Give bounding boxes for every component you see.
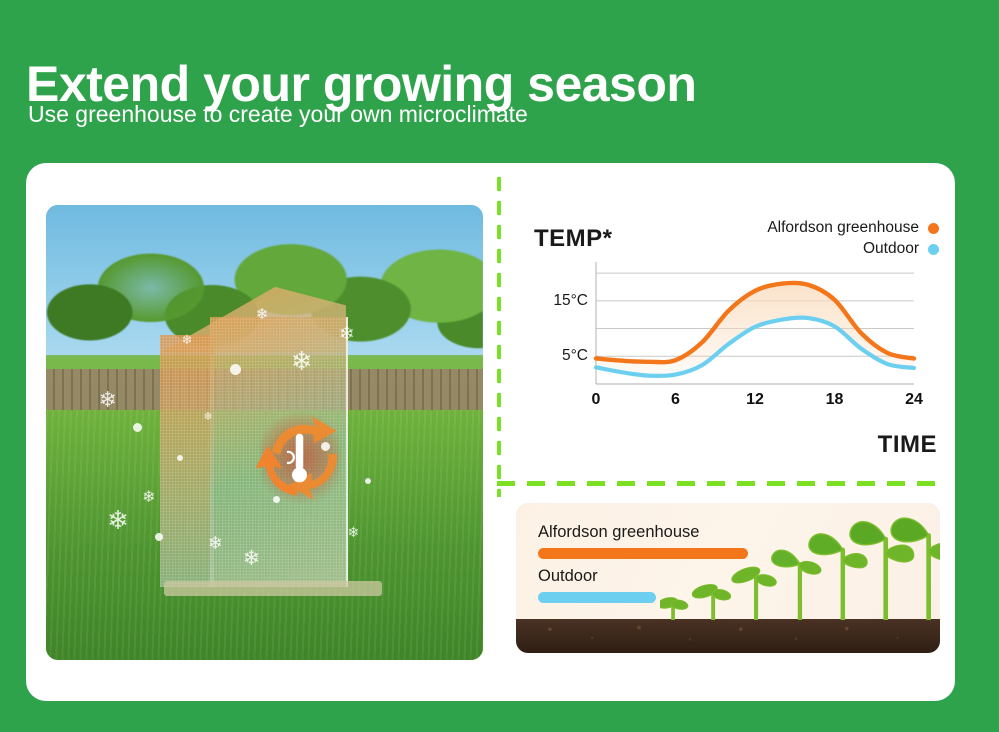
snowflake-icon: ❄: [98, 387, 116, 413]
thermometer-sun-icon: [287, 419, 312, 497]
greenhouse-photo: ❄ ❄ ❄ ❄ ❄ ❄ ❄ ❄ ❄ ❄ ❄: [46, 205, 483, 660]
snowflake-icon: ❄: [348, 524, 360, 541]
content-card: ❄ ❄ ❄ ❄ ❄ ❄ ❄ ❄ ❄ ❄ ❄ TEMP* TIME: [26, 163, 955, 701]
chart-legend: Alfordson greenhouse Outdoor: [767, 219, 939, 261]
chart-x-tick: 18: [826, 391, 844, 409]
chart-x-tick: 0: [592, 391, 601, 409]
snowflake-icon: ❄: [243, 546, 261, 571]
chart-x-tick: 12: [746, 391, 764, 409]
particle: [365, 478, 371, 484]
vertical-dashed-divider: [497, 177, 501, 497]
snowflake-icon: ❄: [203, 410, 212, 423]
horizontal-dashed-divider: [497, 481, 935, 486]
snowflake-icon: ❄: [107, 505, 129, 536]
snowflake-icon: ❄: [291, 346, 313, 377]
snowflake-icon: ❄: [208, 533, 223, 554]
chart-x-tick: 24: [905, 391, 923, 409]
soil-strip: [516, 619, 940, 654]
seedling-growth-stages-photo: [660, 512, 940, 620]
chart-canvas: [596, 262, 914, 384]
legend-color-dot: [928, 223, 939, 234]
growth-bar-outdoor: [538, 592, 656, 603]
growth-bar-label: Alfordson greenhouse: [538, 523, 699, 542]
chart-y-tick: 15°C: [553, 292, 588, 310]
legend-label: Alfordson greenhouse: [767, 219, 919, 237]
growth-bar-label: Outdoor: [538, 567, 598, 586]
growth-comparison-panel: Alfordson greenhouse Outdoor: [516, 503, 940, 653]
greenhouse-side-panel: [160, 335, 215, 587]
infographic-root: Extend your growing season Use greenhous…: [0, 0, 999, 732]
particle: [230, 364, 241, 375]
snowflake-icon: ❄: [339, 323, 355, 346]
chart-plot-area: 5°C15°C06121824: [596, 262, 914, 384]
legend-label: Outdoor: [863, 240, 919, 258]
snowflake-icon: ❄: [256, 305, 269, 323]
chart-y-axis-title: TEMP*: [534, 225, 613, 253]
particle: [155, 533, 163, 541]
chart-y-tick: 5°C: [562, 347, 588, 365]
greenhouse-base: [164, 581, 382, 596]
mesh-texture: [160, 335, 215, 587]
particle: [321, 442, 330, 451]
temperature-chart: TEMP* TIME Alfordson greenhouse Outdoor …: [516, 209, 941, 469]
snowflake-icon: ❄: [181, 332, 192, 348]
legend-item: Alfordson greenhouse: [767, 219, 939, 237]
legend-color-dot: [928, 244, 939, 255]
snowflake-icon: ❄: [142, 487, 155, 507]
chart-x-axis-title: TIME: [878, 431, 937, 459]
page-subtitle: Use greenhouse to create your own microc…: [28, 100, 528, 128]
legend-item: Outdoor: [767, 240, 939, 258]
chart-x-tick: 6: [671, 391, 680, 409]
growth-bar-greenhouse: [538, 548, 748, 559]
